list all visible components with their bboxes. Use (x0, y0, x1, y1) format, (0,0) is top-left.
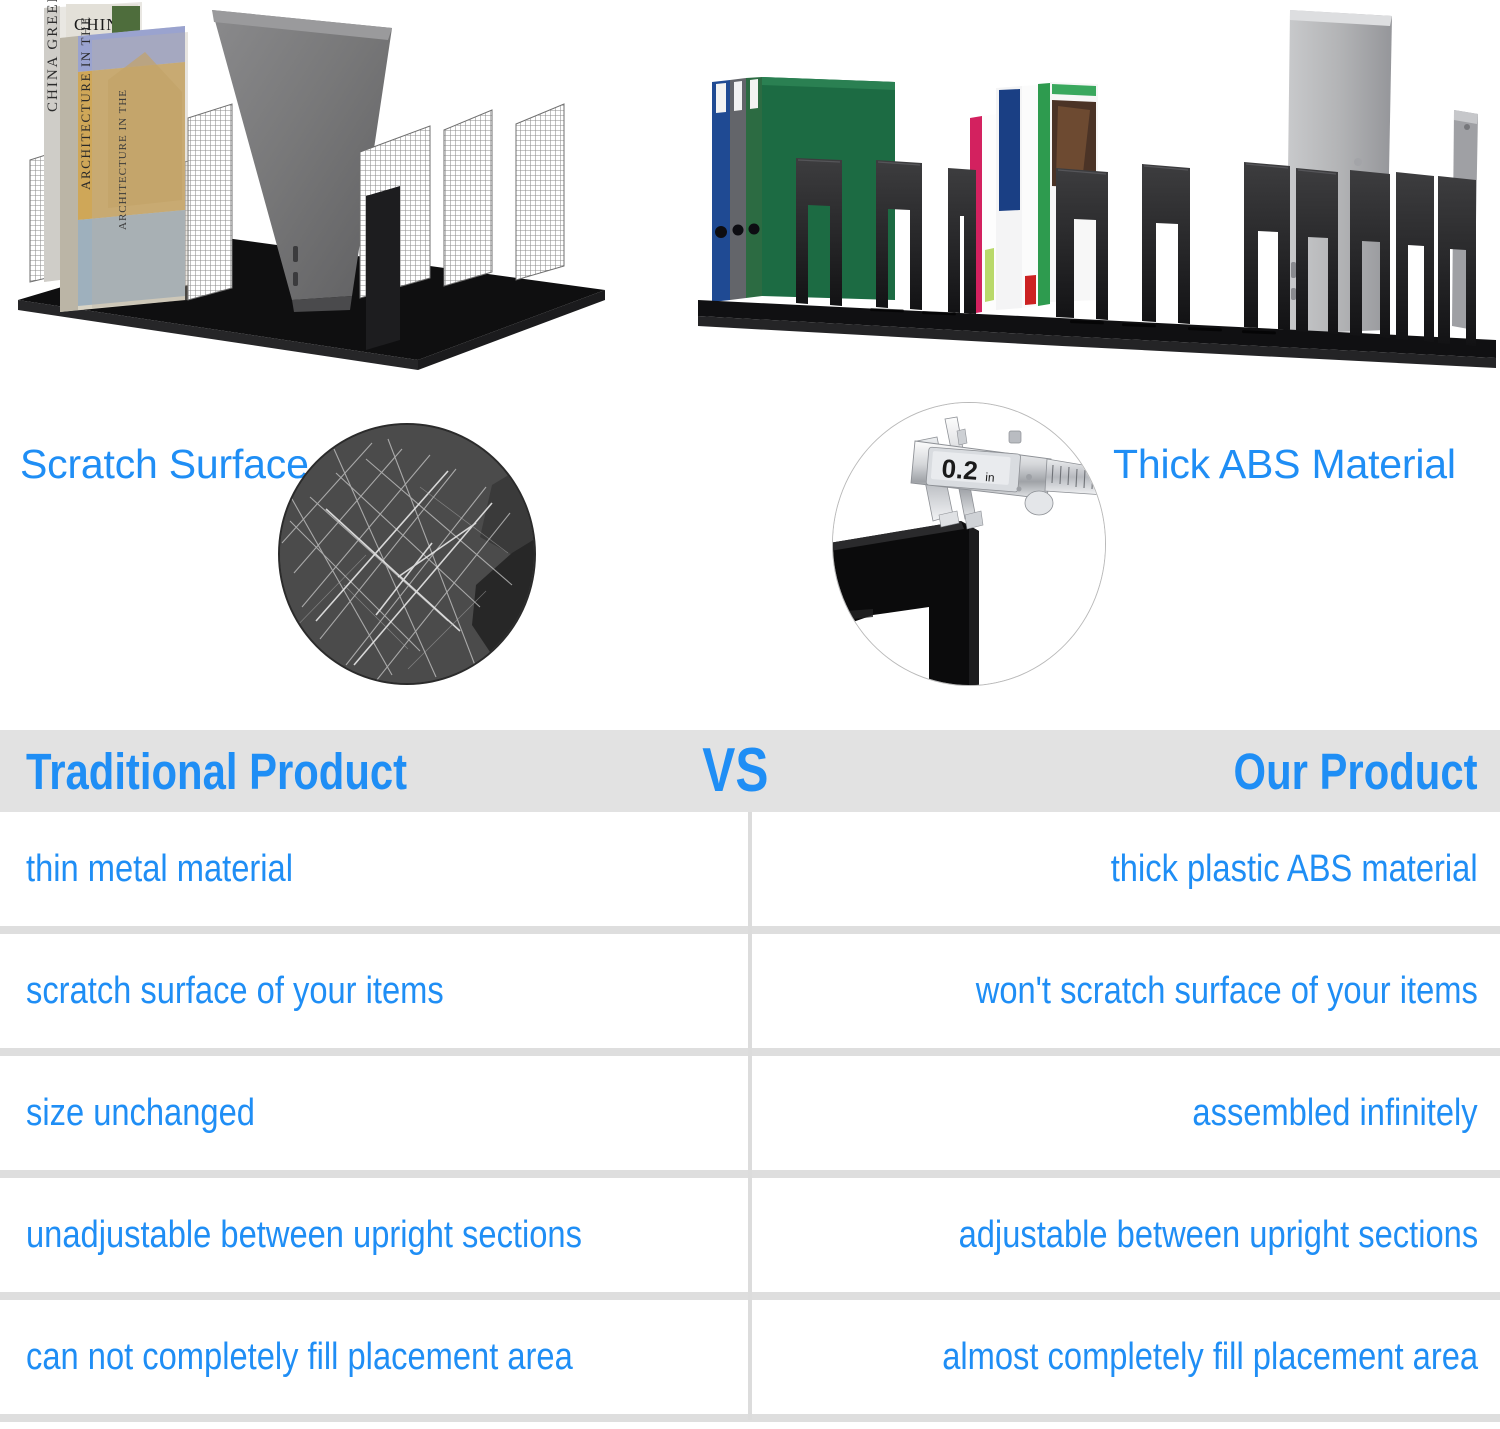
header-cell-ours: Our Product (750, 730, 1500, 812)
row-cell-traditional: unadjustable between upright sections (0, 1178, 750, 1292)
row-cell-ours: thick plastic ABS material (750, 812, 1500, 926)
cell-text: unadjustable between upright sections (26, 1216, 582, 1254)
our-product-title: Our Product (1234, 746, 1478, 797)
thick-abs-material-label: Thick ABS Material (1113, 444, 1456, 485)
vs-label: VS (702, 740, 768, 802)
cell-text: almost completely fill placement area (942, 1338, 1478, 1376)
row-cell-ours: adjustable between upright sections (750, 1178, 1500, 1292)
cell-text: can not completely fill placement area (26, 1338, 573, 1376)
scratch-circle-icon (278, 423, 536, 685)
product-comparison-infographic: CHINA GREEN CHINA ARCHITECTURE IN THE AR… (0, 0, 1500, 1429)
comparison-table: Traditional Product Our Product VS thin … (0, 730, 1500, 1420)
cell-text: thick plastic ABS material (1111, 850, 1478, 888)
caliper-circle-icon: 0.2 in (832, 402, 1106, 686)
row-cell-ours: assembled infinitely (750, 1056, 1500, 1170)
table-header-row: Traditional Product Our Product VS (0, 730, 1500, 812)
cell-text: adjustable between upright sections (958, 1216, 1478, 1254)
row-cell-traditional: thin metal material (0, 812, 750, 926)
header-cell-traditional: Traditional Product (0, 730, 750, 812)
svg-text:in: in (985, 470, 995, 485)
traditional-product-photo: CHINA GREEN CHINA ARCHITECTURE IN THE AR… (0, 0, 640, 400)
row-cell-ours: won't scratch surface of your items (750, 934, 1500, 1048)
row-cell-traditional: size unchanged (0, 1056, 750, 1170)
scratch-surface-label: Scratch Surface (20, 444, 309, 485)
row-cell-traditional: can not completely fill placement area (0, 1300, 750, 1414)
row-cell-traditional: scratch surface of your items (0, 934, 750, 1048)
svg-text:ARCHITECTURE IN THE: ARCHITECTURE IN THE (78, 15, 93, 190)
column-divider (748, 812, 752, 1420)
svg-text:ARCHITECTURE IN THE: ARCHITECTURE IN THE (117, 89, 129, 230)
svg-text:0.2: 0.2 (941, 453, 979, 486)
cell-text: size unchanged (26, 1094, 255, 1132)
row-cell-ours: almost completely fill placement area (750, 1300, 1500, 1414)
cell-text: won't scratch surface of your items (976, 972, 1478, 1010)
svg-text:CHINA GREEN: CHINA GREEN (45, 0, 61, 112)
traditional-product-title: Traditional Product (26, 746, 407, 797)
cell-text: thin metal material (26, 850, 293, 888)
cell-text: assembled infinitely (1193, 1094, 1478, 1132)
cell-text: scratch surface of your items (26, 972, 444, 1010)
our-product-photo (690, 0, 1500, 400)
